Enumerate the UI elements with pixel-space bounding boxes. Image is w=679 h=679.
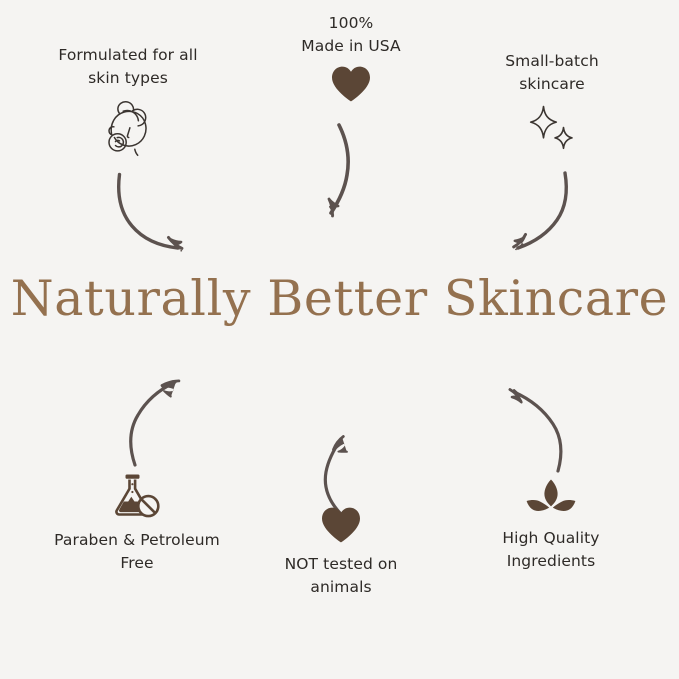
infographic-canvas: Formulated for all skin types [0, 0, 679, 679]
curved-arrow-up [306, 424, 364, 516]
page-title: Naturally Better Skincare [0, 274, 679, 323]
feature-label: Formulated for all skin types [58, 44, 197, 90]
feature-not-tested-on-animals: NOT tested on animals [256, 506, 426, 599]
feature-paraben-petroleum-free: Paraben & Petroleum Free [28, 472, 246, 575]
feature-high-quality-ingredients: High Quality Ingredients [466, 478, 636, 573]
feature-formulated-for-all-skin-types: Formulated for all skin types [28, 44, 228, 169]
curved-arrow-down [312, 122, 372, 232]
face-skincare-icon [97, 97, 159, 169]
no-flask-icon [112, 472, 162, 520]
heart-icon [330, 65, 372, 103]
heart-icon [320, 506, 362, 544]
leaves-icon [526, 478, 576, 518]
feature-label: Paraben & Petroleum Free [54, 529, 220, 575]
feature-label: Small-batch skincare [505, 50, 599, 96]
curved-arrow-down-right [110, 172, 214, 258]
feature-label: High Quality Ingredients [502, 527, 599, 573]
feature-label: NOT tested on animals [285, 553, 398, 599]
feature-made-in-usa: 100% Made in USA [266, 12, 436, 103]
feature-small-batch-skincare: Small-batch skincare [472, 50, 632, 155]
sparkles-icon [521, 103, 583, 155]
feature-label: 100% Made in USA [301, 12, 400, 58]
curved-arrow-up-left [487, 378, 573, 474]
curved-arrow-up-right [124, 372, 190, 468]
curved-arrow-down-left [492, 170, 588, 256]
